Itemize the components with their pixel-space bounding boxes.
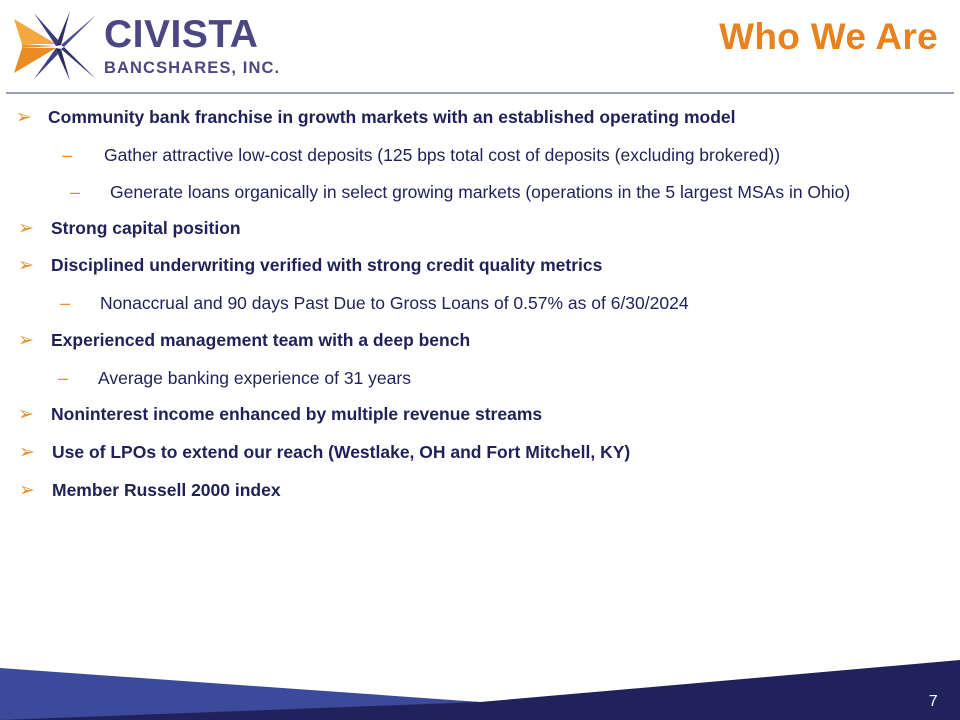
company-logo: CIVISTA BANCSHARES, INC. <box>12 8 280 84</box>
dash-bullet-icon: – <box>0 292 100 315</box>
list-item-label: Generate loans organically in select gro… <box>110 181 850 203</box>
dash-bullet-icon: – <box>0 367 98 390</box>
arrow-bullet-icon: ➢ <box>0 403 51 427</box>
bullet-list: ➢ Community bank franchise in growth mar… <box>0 106 960 503</box>
arrow-bullet-icon: ➢ <box>0 329 51 353</box>
list-item: ➢ Noninterest income enhanced by multipl… <box>0 403 960 427</box>
list-item: – Average banking experience of 31 years <box>0 367 960 390</box>
logo-company-name: CIVISTA <box>104 15 280 54</box>
page-number: 7 <box>929 693 938 711</box>
list-item-label: Strong capital position <box>51 217 241 239</box>
page-title: Who We Are <box>719 16 938 58</box>
list-item: ➢ Strong capital position <box>0 217 960 241</box>
list-item-label: Experienced management team with a deep … <box>51 329 470 351</box>
arrow-bullet-icon: ➢ <box>0 441 52 465</box>
list-item-label: Noninterest income enhanced by multiple … <box>51 403 542 425</box>
footer-decoration <box>0 630 960 720</box>
list-item-label: Average banking experience of 31 years <box>98 367 411 389</box>
list-item-label: Gather attractive low-cost deposits (125… <box>104 144 780 166</box>
civista-star-logo-icon <box>12 9 98 83</box>
list-item: ➢ Community bank franchise in growth mar… <box>0 106 960 130</box>
arrow-bullet-icon: ➢ <box>0 479 52 503</box>
header-divider <box>6 92 954 94</box>
logo-company-subtitle: BANCSHARES, INC. <box>104 60 280 77</box>
arrow-bullet-icon: ➢ <box>0 254 51 278</box>
list-item: ➢ Use of LPOs to extend our reach (Westl… <box>0 441 960 465</box>
arrow-bullet-icon: ➢ <box>0 217 51 241</box>
list-item: – Generate loans organically in select g… <box>0 181 960 204</box>
list-item: ➢ Member Russell 2000 index <box>0 479 960 503</box>
dash-bullet-icon: – <box>0 144 104 167</box>
list-item-label: Nonaccrual and 90 days Past Due to Gross… <box>100 292 689 314</box>
list-item: – Gather attractive low-cost deposits (1… <box>0 144 960 167</box>
list-item-label: Disciplined underwriting verified with s… <box>51 254 602 276</box>
list-item-label: Community bank franchise in growth marke… <box>48 106 735 128</box>
logo-wordmark: CIVISTA BANCSHARES, INC. <box>104 15 280 77</box>
list-item-label: Use of LPOs to extend our reach (Westlak… <box>52 441 630 463</box>
slide-header: CIVISTA BANCSHARES, INC. Who We Are <box>0 0 960 94</box>
arrow-bullet-icon: ➢ <box>0 106 48 130</box>
dash-bullet-icon: – <box>0 181 110 204</box>
list-item: – Nonaccrual and 90 days Past Due to Gro… <box>0 292 960 315</box>
list-item: ➢ Disciplined underwriting verified with… <box>0 254 960 278</box>
list-item: ➢ Experienced management team with a dee… <box>0 329 960 353</box>
list-item-label: Member Russell 2000 index <box>52 479 281 501</box>
slide: CIVISTA BANCSHARES, INC. Who We Are ➢ Co… <box>0 0 960 720</box>
